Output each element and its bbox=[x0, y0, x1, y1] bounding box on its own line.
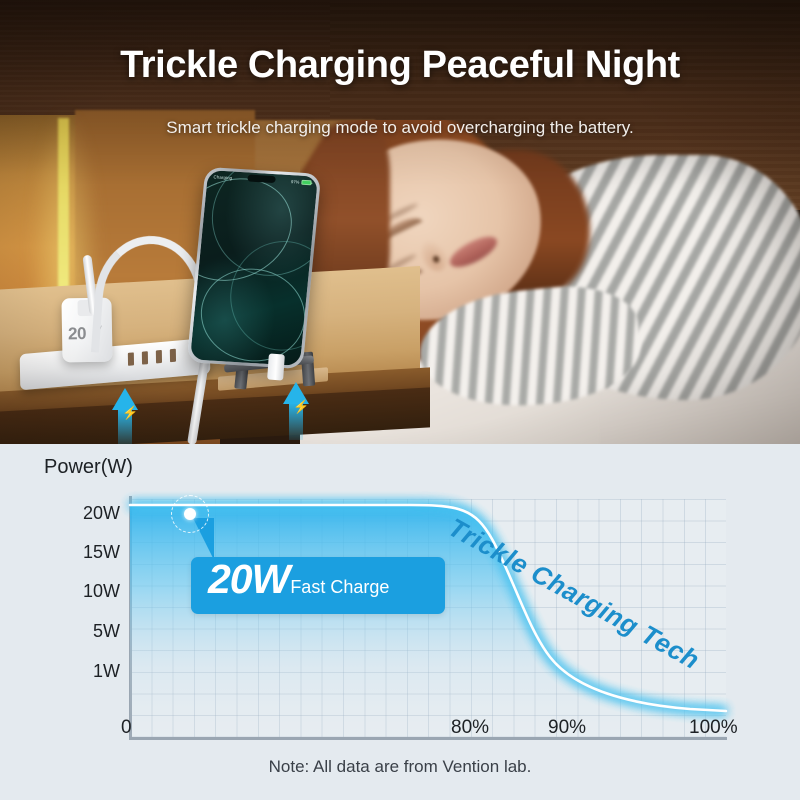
badge-wattage: 20W bbox=[208, 557, 289, 601]
badge-fast-charge-label: Fast Charge bbox=[290, 577, 389, 598]
y-tick-15w: 15W bbox=[46, 542, 120, 563]
lightning-bolt-icon: ⚡ bbox=[293, 400, 309, 413]
y-tick-10w: 10W bbox=[46, 581, 120, 602]
lightning-bolt-icon: ⚡ bbox=[122, 406, 138, 419]
battery-percent-label: 97% bbox=[291, 179, 300, 184]
hero-photo: 20 W Charging 97% bbox=[0, 0, 800, 444]
fast-charge-badge: 20W Fast Charge bbox=[191, 557, 445, 614]
curve-marker-dot bbox=[184, 508, 196, 520]
x-tick-0: 0 bbox=[121, 717, 132, 739]
page-title: Trickle Charging Peaceful Night bbox=[0, 44, 800, 87]
y-tick-20w: 20W bbox=[46, 503, 120, 524]
y-tick-1w: 1W bbox=[46, 661, 120, 682]
smartphone: Charging 97% bbox=[187, 167, 322, 369]
product-feature-page: 20 W Charging 97% bbox=[0, 0, 800, 800]
power-chart-panel: Power(W) bbox=[0, 444, 800, 800]
usb-c-connector bbox=[267, 353, 285, 380]
chart-note: Note: All data are from Vention lab. bbox=[0, 757, 800, 777]
page-subtitle: Smart trickle charging mode to avoid ove… bbox=[0, 118, 800, 138]
phone-status-right: 97% bbox=[291, 179, 312, 185]
charger-wattage-label: 20 bbox=[68, 324, 86, 344]
battery-icon bbox=[301, 180, 311, 186]
x-axis-line bbox=[129, 737, 727, 740]
phone-charging-status: Charging bbox=[213, 174, 232, 180]
phone-screen: Charging 97% bbox=[190, 170, 318, 366]
y-axis-tick-labels: 20W 15W 10W 5W 1W bbox=[46, 444, 120, 744]
lips bbox=[446, 231, 501, 273]
y-tick-5w: 5W bbox=[46, 621, 120, 642]
charge-bolt-arrow-icon: ⚡ bbox=[112, 388, 138, 444]
x-tick-100: 100% bbox=[689, 717, 738, 739]
x-tick-80: 80% bbox=[451, 717, 489, 739]
charge-bolt-arrow-icon: ⚡ bbox=[283, 382, 309, 440]
x-tick-90: 90% bbox=[548, 717, 586, 739]
